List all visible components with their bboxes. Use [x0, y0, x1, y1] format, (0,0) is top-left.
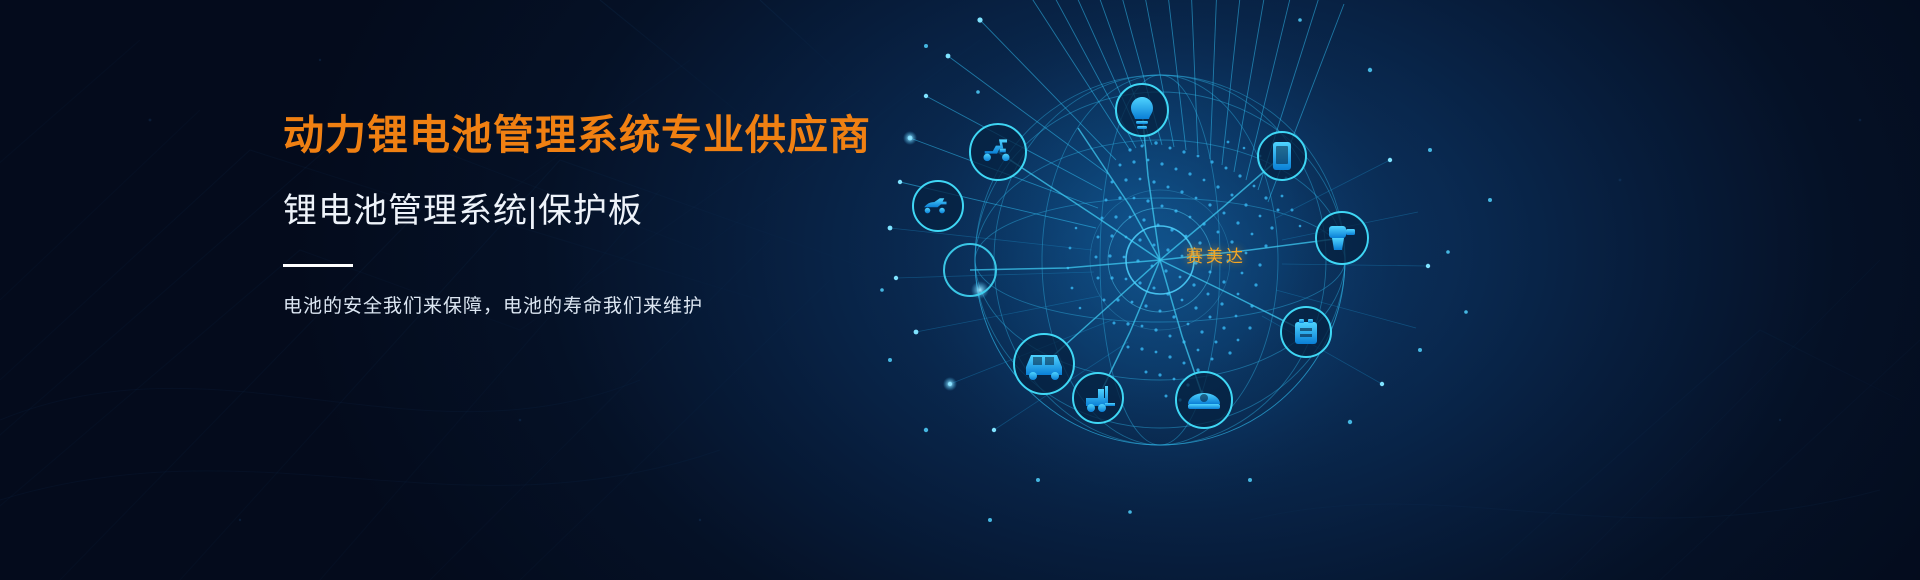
hero-banner: 赛美达 动力锂电池管理系统专业供应商 锂电池管理系统|保护板 电池的安全我们来保… [0, 0, 1920, 580]
phone-icon [1258, 132, 1306, 180]
page-tagline: 电池的安全我们来保障，电池的寿命我们来维护 [283, 291, 903, 318]
globe-brand-label: 赛美达 [1186, 242, 1246, 267]
scooter-icon [970, 124, 1026, 180]
forklift-icon [1073, 373, 1123, 423]
battery-pack-icon [1281, 307, 1331, 357]
text-divider [283, 264, 353, 267]
robot-vacuum-icon [1176, 372, 1232, 428]
car-icon [1014, 334, 1074, 394]
page-subtitle: 锂电池管理系统|保护板 [283, 183, 903, 232]
page-headline: 动力锂电池管理系统专业供应商 [283, 110, 903, 161]
globe-network-graphic [830, 0, 1530, 580]
power-tool-icon [1316, 212, 1368, 264]
lightbulb-icon [1116, 84, 1168, 136]
hero-text-block: 动力锂电池管理系统专业供应商 锂电池管理系统|保护板 电池的安全我们来保障，电池… [283, 110, 903, 318]
electric-bike-icon [913, 181, 963, 231]
